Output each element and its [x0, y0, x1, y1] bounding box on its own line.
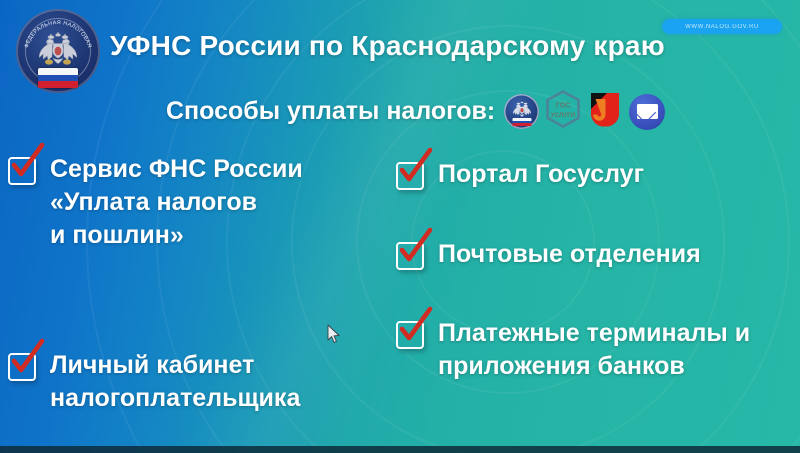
red-checkmark-icon [397, 228, 435, 268]
checkbox-checked[interactable] [396, 321, 426, 351]
checkbox-checked[interactable] [8, 353, 38, 383]
fns-emblem-icon[interactable] [504, 94, 539, 129]
red-checkmark-icon [9, 143, 47, 183]
mail-envelope-icon[interactable] [629, 94, 665, 130]
payment-methods-right-column: Портал Госуслуг Почтовые отделения [396, 152, 796, 383]
gosuslugi-text-bottom: УСЛУГИ [551, 112, 576, 119]
gosuslugi-hexagon-icon: ГОС УСЛУГИ [545, 90, 581, 128]
payment-methods-left-column: Сервис ФНС России «Уплата налогов и пошл… [8, 152, 388, 415]
list-item-label: Сервис ФНС России «Уплата налогов и пошл… [50, 152, 303, 252]
subtitle-row: Способы уплаты налогов: [166, 90, 665, 133]
list-item-label: Личный кабинет налогоплательщика [50, 348, 300, 415]
list-item[interactable]: Почтовые отделения [396, 237, 796, 272]
payment-icons-row: ГОС УСЛУГИ [504, 90, 665, 133]
list-item[interactable]: Личный кабинет налогоплательщика [8, 348, 388, 415]
checkbox-checked[interactable] [8, 157, 38, 187]
list-item-label: Платежные терминалы и приложения банков [438, 316, 750, 383]
red-checkmark-icon [9, 339, 47, 379]
subtitle-text: Способы уплаты налогов: [166, 97, 495, 126]
russian-flag [512, 118, 531, 126]
red-checkmark-icon [397, 307, 435, 347]
bank-logo-icon[interactable] [587, 90, 623, 133]
gosuslugi-icon[interactable]: ГОС УСЛУГИ [545, 90, 581, 133]
list-item[interactable]: Платежные терминалы и приложения банков [396, 316, 796, 383]
checkbox-checked[interactable] [396, 162, 426, 192]
red-checkmark-icon [397, 148, 435, 188]
list-item[interactable]: Сервис ФНС России «Уплата налогов и пошл… [8, 152, 388, 252]
gosuslugi-text-top: ГОС [556, 103, 570, 110]
fns-emblem-logo: ФЕДЕРАЛЬНАЯ НАЛОГОВАЯ СЛУЖБА [16, 9, 100, 93]
double-headed-eagle-icon [35, 32, 81, 68]
emblem-disc: ФЕДЕРАЛЬНАЯ НАЛОГОВАЯ СЛУЖБА [16, 9, 100, 93]
envelope-glyph [637, 104, 658, 119]
website-url-badge[interactable]: WWW.NALOG.GOV.RU [662, 19, 782, 34]
bank-shield-icon [587, 90, 623, 128]
checkbox-checked[interactable] [396, 242, 426, 272]
list-item[interactable]: Портал Госуслуг [396, 157, 796, 192]
russian-flag [38, 68, 78, 88]
double-headed-eagle-icon [511, 101, 533, 118]
list-item-label: Почтовые отделения [438, 237, 701, 271]
page-title: УФНС России по Краснодарскому краю [110, 30, 665, 62]
list-item-label: Портал Госуслуг [438, 157, 644, 191]
slide-canvas: WWW.NALOG.GOV.RU ФЕДЕРАЛЬНАЯ НАЛОГОВАЯ С… [0, 0, 800, 453]
website-url-text: WWW.NALOG.GOV.RU [685, 24, 759, 30]
bottom-strip [0, 446, 800, 453]
